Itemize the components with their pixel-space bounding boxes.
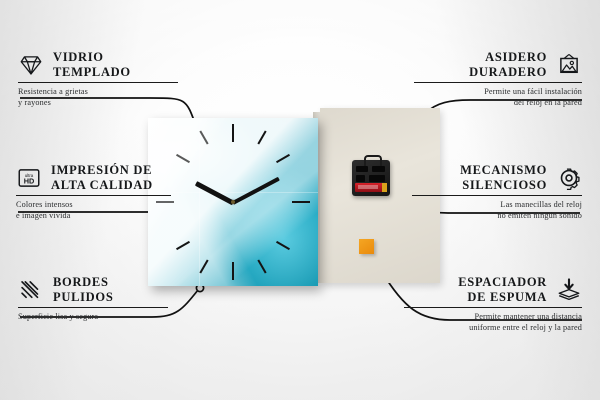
callout-description: Colores intensos	[16, 200, 231, 211]
callout-title: DURADERO	[469, 65, 547, 80]
callout-description: e imagen vívida	[16, 211, 231, 222]
callout-impresion-alta-calidad: ultra HD IMPRESIÓN DE ALTA CALIDAD Color…	[16, 163, 231, 221]
callout-title: MECANISMO	[460, 163, 547, 178]
svg-text:HD: HD	[24, 176, 35, 185]
callout-divider	[18, 307, 168, 308]
callout-vidrio-templado: VIDRIO TEMPLADO Resistencia a grietas y …	[18, 50, 233, 108]
clock-tick	[232, 124, 234, 142]
foam-spacer-part	[359, 239, 374, 254]
infographic-canvas: VIDRIO TEMPLADO Resistencia a grietas y …	[0, 0, 600, 400]
callout-description: Las manecillas del reloj	[367, 200, 582, 211]
foam-spacer-icon	[556, 277, 582, 303]
callout-description: Permite mantener una distancia	[367, 312, 582, 323]
callout-title: ASIDERO	[469, 50, 547, 65]
callout-title: BORDES	[53, 275, 113, 290]
hanging-frame-icon	[556, 52, 582, 78]
diamond-icon	[18, 52, 44, 78]
clock-center-pin	[231, 200, 235, 204]
callout-title: IMPRESIÓN DE	[51, 163, 153, 178]
ultra-hd-icon: ultra HD	[16, 165, 42, 191]
callout-description: no emiten ningún sonido	[367, 211, 582, 222]
polished-edges-icon	[18, 277, 44, 303]
callout-title: DE ESPUMA	[458, 290, 547, 305]
callout-divider	[404, 307, 582, 308]
clock-tick	[292, 201, 310, 203]
callout-bordes-pulidos: BORDES PULIDOS Superficie lisa y segura	[18, 275, 233, 323]
callout-description: Permite una fácil instalación	[367, 87, 582, 98]
gear-icon	[556, 165, 582, 191]
callout-title: ESPACIADOR	[458, 275, 547, 290]
callout-asidero-duradero: ASIDERO DURADERO Permite una fácil insta…	[367, 50, 582, 108]
callout-description: del reloj en la pared	[367, 98, 582, 109]
callout-divider	[16, 195, 171, 196]
callout-divider	[18, 82, 178, 83]
callout-divider	[412, 195, 582, 196]
callout-description: uniforme entre el reloj y la pared	[367, 323, 582, 334]
callout-description: Superficie lisa y segura	[18, 312, 233, 323]
callout-title: TEMPLADO	[53, 65, 131, 80]
callout-description: Resistencia a grietas	[18, 87, 233, 98]
callout-mecanismo-silencioso: MECANISMO SILENCIOSO Las manecillas del …	[367, 163, 582, 221]
callout-description: y rayones	[18, 98, 233, 109]
callout-title: ALTA CALIDAD	[51, 178, 153, 193]
callout-divider	[414, 82, 582, 83]
callout-title: SILENCIOSO	[460, 178, 547, 193]
callout-title: PULIDOS	[53, 290, 113, 305]
callout-espaciador-de-espuma: ESPACIADOR DE ESPUMA Permite mantener un…	[367, 275, 582, 333]
callout-title: VIDRIO	[53, 50, 131, 65]
mechanism-detail	[356, 175, 365, 182]
